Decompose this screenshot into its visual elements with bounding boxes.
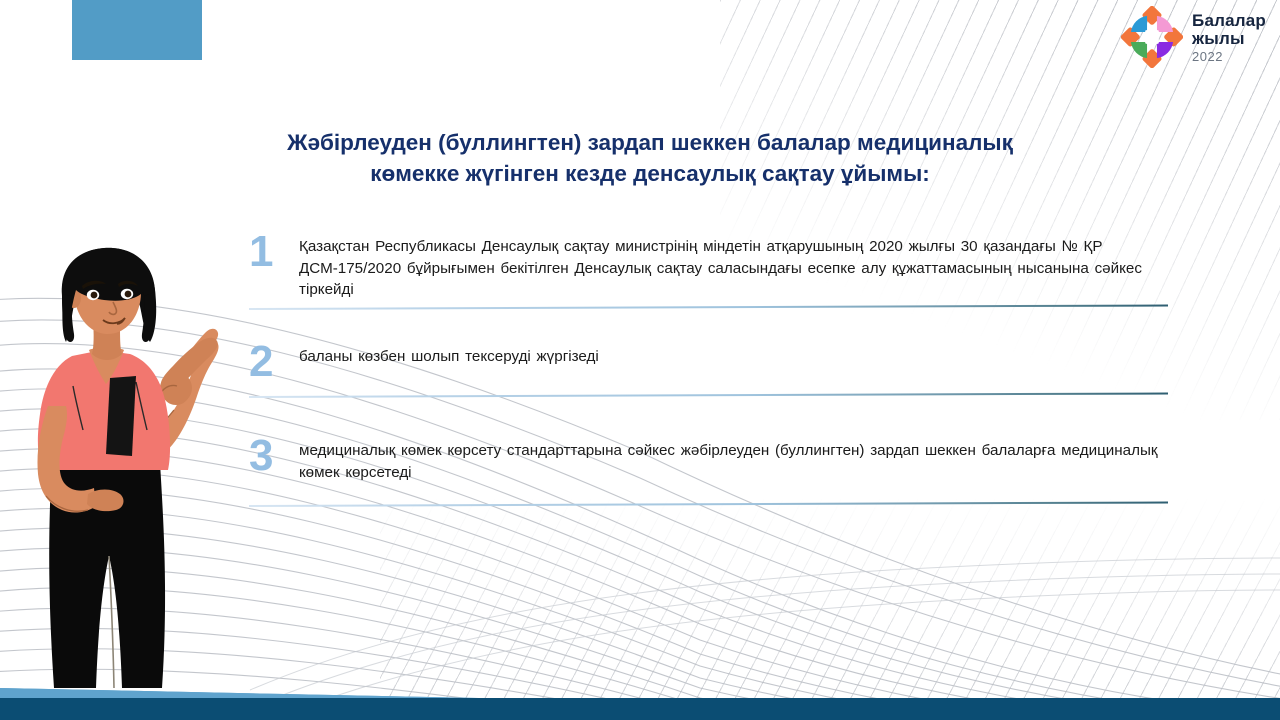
list-item-text: Қазақстан Республикасы Денсаулық сақтау … <box>299 236 1168 301</box>
list-item: 1 Қазақстан Республикасы Денсаулық сақта… <box>243 232 1168 310</box>
list-item-number: 1 <box>243 232 299 272</box>
list-item-divider <box>249 393 1168 399</box>
woman-pointing-illustration <box>10 238 240 700</box>
balalar-zhyly-logo: Балалар жылы 2022 <box>1121 6 1266 68</box>
list-item-text: медициналық көмек көрсету стандарттарына… <box>299 440 1168 483</box>
title-line-2: көмекке жүгінген кезде денсаулық сақтау … <box>180 159 1120 190</box>
page-title: Жәбірлеуден (буллингтен) зардап шеккен б… <box>180 128 1120 189</box>
list-item-divider <box>249 304 1168 310</box>
logo-wordmark: Балалар жылы 2022 <box>1192 12 1266 63</box>
logo-line-1: Балалар <box>1192 12 1266 29</box>
slide-canvas: Балалар жылы 2022 Жәбірлеуден (буллингте… <box>0 0 1280 720</box>
list-item-text: баланы көзбен шолып тексеруді жүргізеді <box>299 346 1168 368</box>
logo-line-2: жылы <box>1192 30 1266 47</box>
numbered-list: 1 Қазақстан Республикасы Денсаулық сақта… <box>243 232 1168 515</box>
list-item: 3 медициналық көмек көрсету стандарттары… <box>243 436 1168 507</box>
title-line-1: Жәбірлеуден (буллингтен) зардап шеккен б… <box>180 128 1120 159</box>
list-item-number: 3 <box>243 436 299 476</box>
logo-year: 2022 <box>1192 50 1266 63</box>
list-item-number: 2 <box>243 342 299 382</box>
bottom-navy-band <box>0 698 1280 720</box>
header-accent-block <box>72 0 202 60</box>
list-item-divider <box>249 502 1168 508</box>
list-item: 2 баланы көзбен шолып тексеруді жүргізед… <box>243 342 1168 398</box>
rosette-flower-icon <box>1121 6 1183 68</box>
